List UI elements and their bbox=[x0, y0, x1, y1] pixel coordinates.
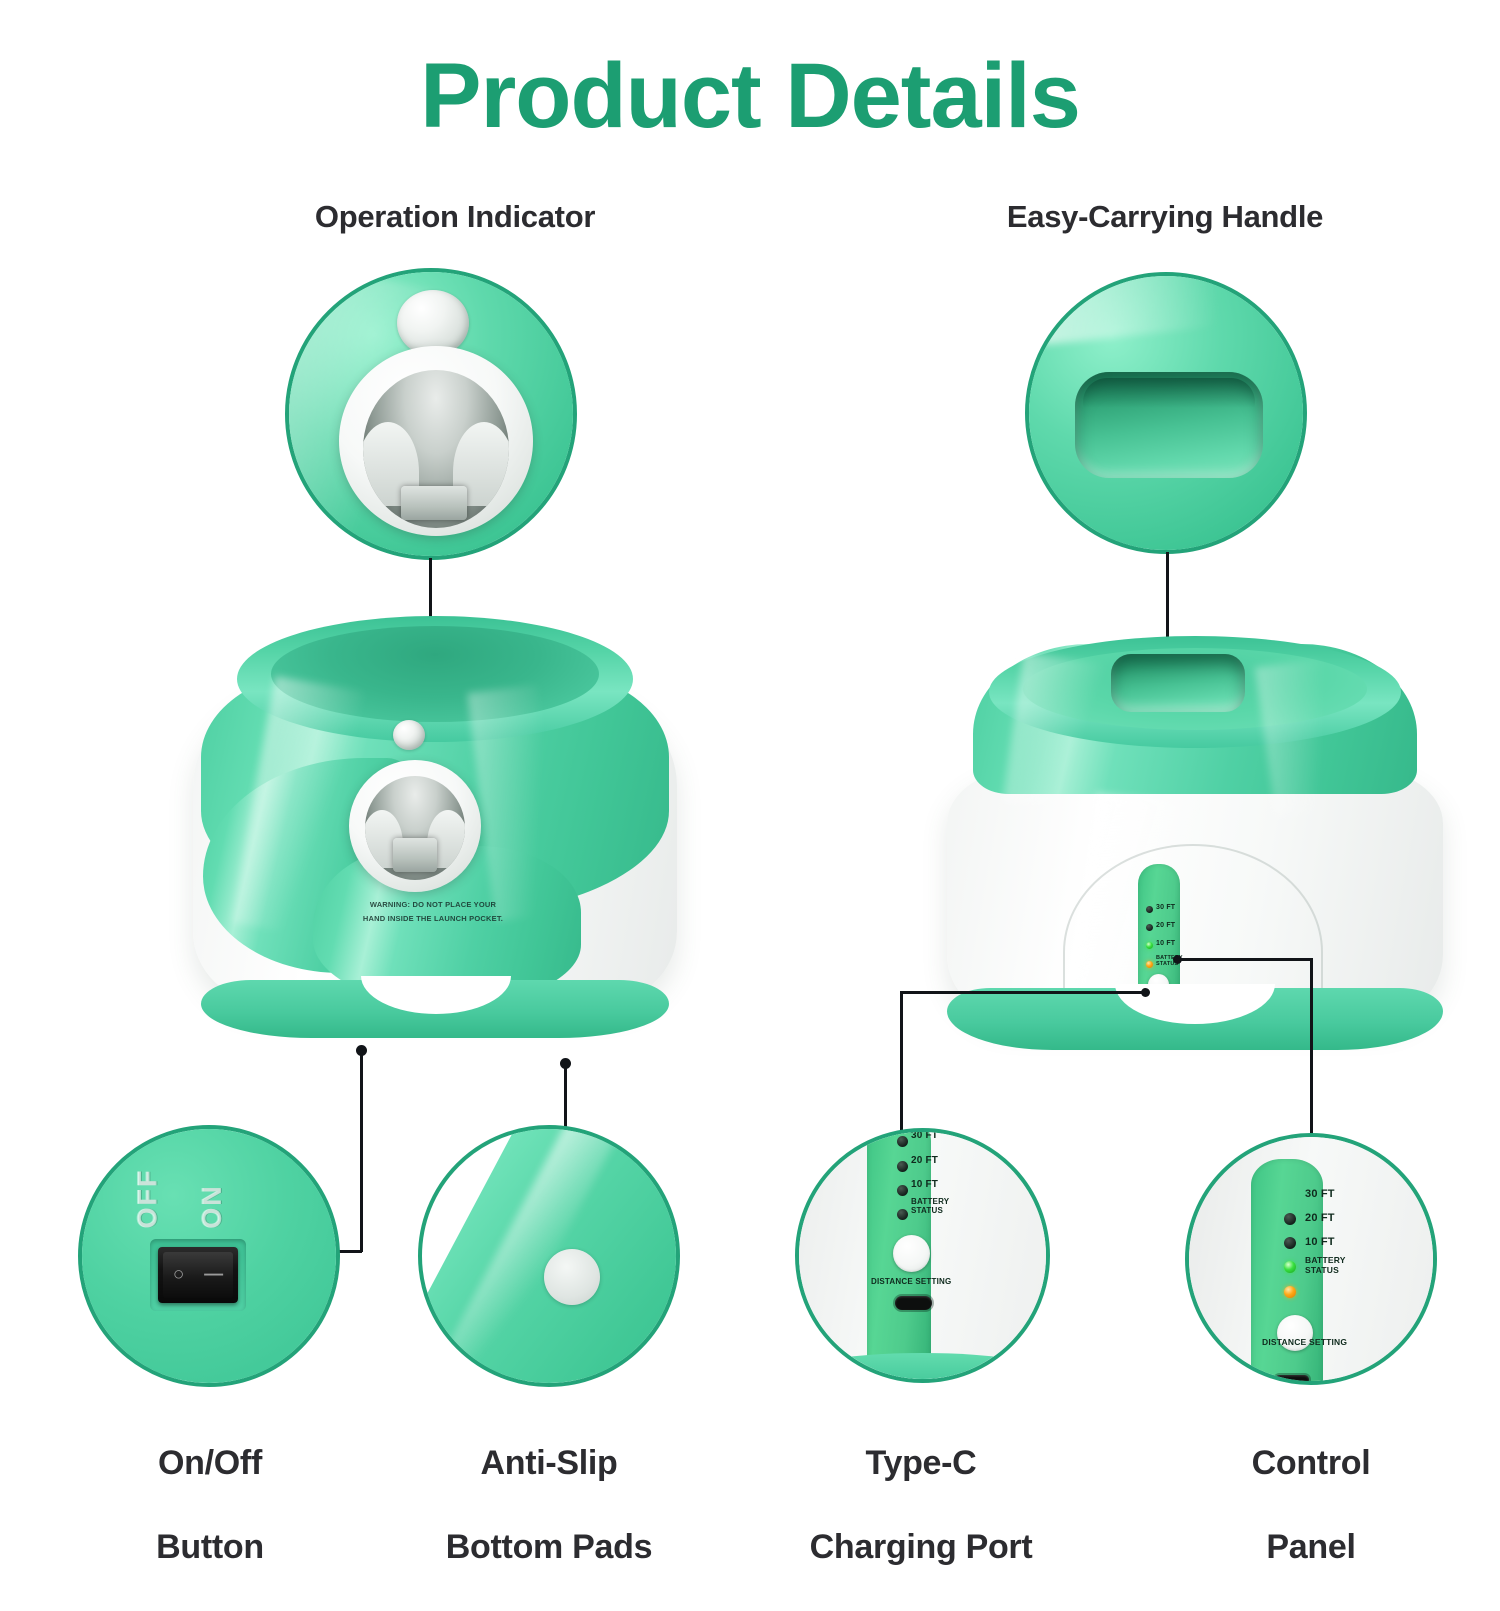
leader-line-charging-port-horizontal bbox=[900, 991, 1145, 994]
led-label-30ft: 30 FT bbox=[1156, 904, 1175, 912]
product-back-view: 30 FT 20 FT 10 FT BATTERY STATUS DISTANC… bbox=[935, 628, 1455, 1058]
warning-label: WARNING: DO NOT PLACE YOUR HAND INSIDE T… bbox=[303, 898, 563, 927]
label-line-2: Charging Port bbox=[770, 1526, 1072, 1568]
led-label-20ft: 20 FT bbox=[1305, 1212, 1335, 1224]
callout-bottom-pads[interactable] bbox=[418, 1125, 680, 1387]
led-label-10ft: 10 FT bbox=[1156, 940, 1175, 948]
led-10ft bbox=[1146, 942, 1153, 949]
pocket-launch-flap bbox=[393, 838, 437, 872]
led-label-20ft: 20 FT bbox=[1156, 922, 1175, 930]
led-label-20ft: 20 FT bbox=[911, 1155, 938, 1166]
led-label-30ft: 30 FT bbox=[1305, 1188, 1335, 1200]
led-label-30ft: 30 FT bbox=[911, 1130, 938, 1141]
feature-label-control-panel: Control Panel bbox=[1180, 1400, 1442, 1611]
usb-c-port-icon[interactable] bbox=[1275, 1375, 1309, 1384]
leader-line-control-panel-vertical bbox=[1310, 958, 1313, 1140]
launch-pocket-interior bbox=[365, 776, 465, 880]
led-30ft bbox=[897, 1136, 908, 1147]
led-battery bbox=[1284, 1286, 1296, 1298]
switch-label-off: OFF bbox=[133, 1169, 164, 1229]
infographic-canvas: Product Details Operation Indicator Easy… bbox=[0, 0, 1500, 1500]
label-line-2: Bottom Pads bbox=[398, 1526, 700, 1568]
launch-pocket-interior bbox=[363, 370, 509, 528]
usb-c-port-icon[interactable] bbox=[895, 1296, 932, 1310]
callout-carrying-handle[interactable] bbox=[1025, 272, 1307, 554]
label-line-1: Type-C bbox=[770, 1442, 1072, 1484]
distance-setting-label: DISTANCE SETTING bbox=[1262, 1337, 1347, 1347]
leader-line-onoff-vertical bbox=[360, 1052, 363, 1252]
led-20ft bbox=[1146, 924, 1153, 931]
led-label-battery: BATTERY STATUS bbox=[911, 1198, 949, 1216]
distance-setting-button[interactable] bbox=[893, 1235, 930, 1272]
label-line-1: Control bbox=[1180, 1442, 1442, 1484]
feature-label-bottom-pads: Anti-Slip Bottom Pads bbox=[398, 1400, 700, 1611]
led-20ft bbox=[897, 1161, 908, 1172]
callout-charging-port[interactable]: 30 FT 20 FT 10 FT BATTERY STATUS DISTANC… bbox=[795, 1128, 1050, 1383]
led-battery bbox=[1146, 961, 1153, 968]
switch-symbol-on: — bbox=[204, 1264, 223, 1286]
handle-recess-icon bbox=[1075, 372, 1263, 478]
handle-recess-icon bbox=[1111, 654, 1245, 712]
product-base-edge bbox=[418, 1125, 680, 1387]
callout-operation-indicator[interactable] bbox=[285, 268, 577, 560]
feature-label-carrying-handle: Easy-Carrying Handle bbox=[885, 198, 1445, 236]
led-20ft bbox=[1284, 1237, 1296, 1249]
sensor-dome-icon bbox=[393, 720, 425, 750]
feature-label-onoff-button: On/Off Button bbox=[79, 1400, 341, 1611]
leader-line-onoff-horizontal bbox=[338, 1250, 362, 1253]
switch-label-on: ON bbox=[197, 1184, 228, 1229]
led-label-10ft: 10 FT bbox=[1305, 1236, 1335, 1248]
switch-symbol-off: ○ bbox=[173, 1264, 184, 1286]
led-label-10ft: 10 FT bbox=[911, 1179, 938, 1190]
page-title: Product Details bbox=[0, 48, 1500, 145]
callout-onoff-button[interactable]: OFF ON ○ — bbox=[78, 1125, 340, 1387]
pocket-launch-flap bbox=[401, 486, 467, 520]
label-line-1: Anti-Slip bbox=[398, 1442, 700, 1484]
led-10ft bbox=[1284, 1261, 1296, 1273]
rubber-pad-icon bbox=[544, 1249, 600, 1305]
led-30ft bbox=[1146, 906, 1153, 913]
product-bowl-interior bbox=[271, 626, 599, 722]
switch-bezel: ○ — bbox=[150, 1239, 246, 1311]
callout-control-panel[interactable]: 30 FT 20 FT 10 FT BATTERY STATUS DISTANC… bbox=[1185, 1133, 1437, 1385]
distance-setting-label: DISTANCE SETTING bbox=[871, 1277, 951, 1286]
led-10ft bbox=[897, 1185, 908, 1196]
leader-line-charging-port-vertical bbox=[900, 991, 903, 1141]
feature-label-operation-indicator: Operation Indicator bbox=[175, 198, 735, 236]
onoff-switch-body[interactable]: ○ — bbox=[158, 1247, 238, 1303]
leader-line-bottom-pads bbox=[564, 1065, 567, 1133]
led-30ft bbox=[1284, 1213, 1296, 1225]
led-battery bbox=[897, 1209, 908, 1220]
product-front-view: WARNING: DO NOT PLACE YOUR HAND INSIDE T… bbox=[185, 608, 685, 1063]
feature-label-charging-port: Type-C Charging Port bbox=[770, 1400, 1072, 1611]
onoff-switch-rocker[interactable]: ○ — bbox=[163, 1252, 233, 1298]
leader-line-control-panel-horizontal bbox=[1180, 958, 1312, 961]
label-line-2: Panel bbox=[1180, 1526, 1442, 1568]
label-line-2: Button bbox=[79, 1526, 341, 1568]
led-label-battery: BATTERY STATUS bbox=[1305, 1256, 1346, 1275]
handle-slot-shadow bbox=[1083, 378, 1255, 426]
label-line-1: On/Off bbox=[79, 1442, 341, 1484]
